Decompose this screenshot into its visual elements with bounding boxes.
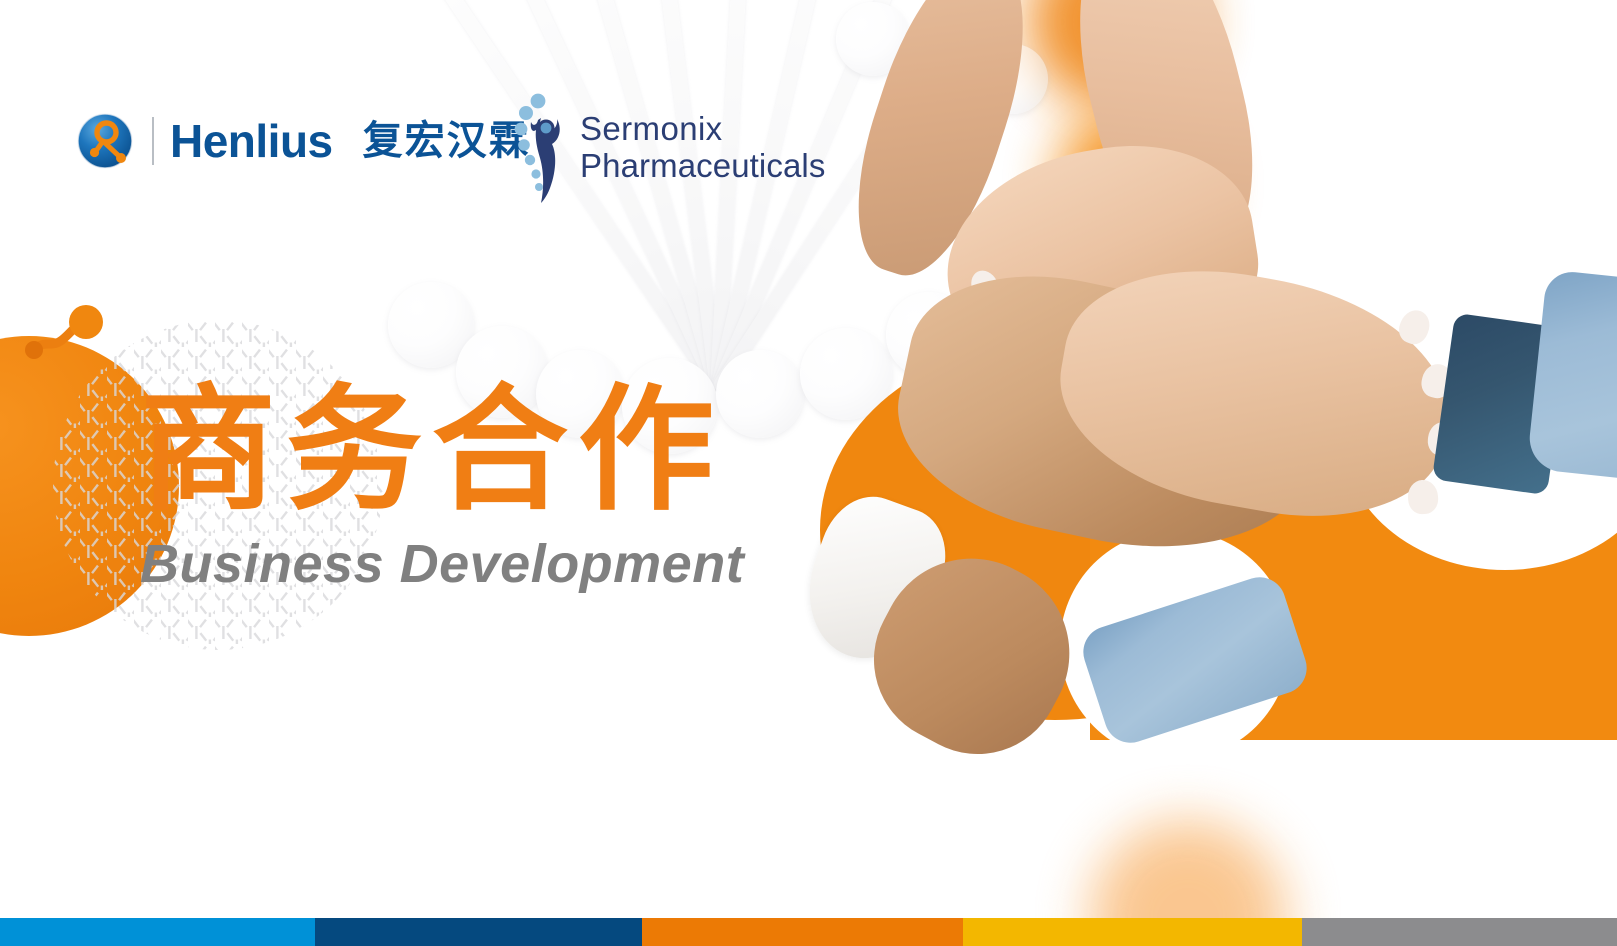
henlius-chinese-name: 复宏汉霖 xyxy=(363,121,531,161)
logo-divider xyxy=(152,117,154,165)
sermonix-name-line1: Sermonix xyxy=(580,111,825,148)
sermonix-wordmark: Sermonix Pharmaceuticals xyxy=(580,111,825,185)
color-bar-segment-yellow xyxy=(963,918,1302,946)
headline-block: 商务合作 Business Development xyxy=(140,382,744,595)
slide-canvas: 商务合作 Business Development xyxy=(0,0,1617,946)
page-title-cn: 商务合作 xyxy=(140,382,744,521)
page-subtitle-en: Business Development xyxy=(140,533,744,595)
henlius-molecule-mark-icon xyxy=(76,112,134,170)
color-bar-segment-light-blue xyxy=(0,918,315,946)
henlius-wordmark: Henlius xyxy=(170,118,333,164)
color-bar-segment-dark-blue xyxy=(315,918,642,946)
color-bar-segment-gray xyxy=(1302,918,1617,946)
teamwork-hands-photo xyxy=(760,0,1617,720)
bottom-color-bar xyxy=(0,918,1617,946)
color-bar-segment-orange xyxy=(642,918,963,946)
henlius-logo-lockup[interactable]: Henlius 复宏汉霖 xyxy=(76,112,531,170)
sermonix-logo-lockup[interactable]: Sermonix Pharmaceuticals xyxy=(508,92,825,204)
molecule-doodle-icon xyxy=(22,300,112,385)
sermonix-name-line2: Pharmaceuticals xyxy=(580,148,825,185)
sermonix-figure-mark-icon xyxy=(508,92,570,204)
